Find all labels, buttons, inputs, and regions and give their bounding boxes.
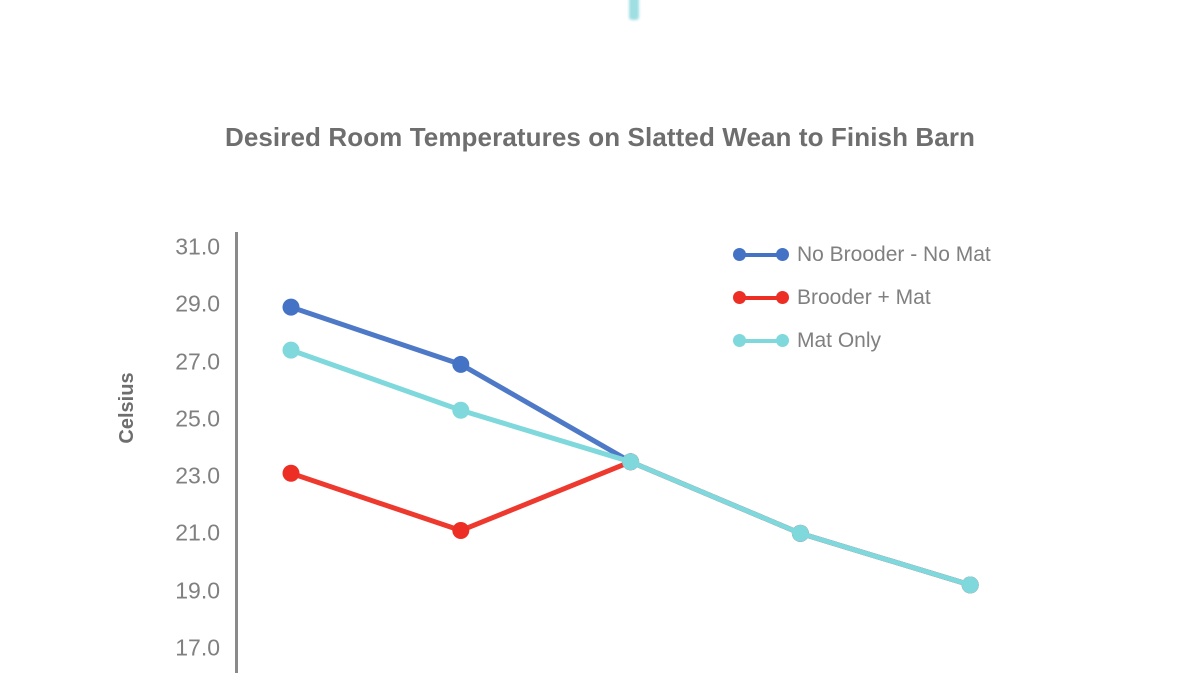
data-point-marker[interactable] (452, 402, 469, 419)
legend-item-label: Mat Only (797, 329, 881, 353)
line-chart: Desired Room Temperatures on Slatted Wea… (0, 0, 1200, 675)
data-point-marker[interactable] (452, 356, 469, 373)
data-point-marker[interactable] (792, 525, 809, 542)
data-point-marker[interactable] (962, 576, 979, 593)
legend-swatch-icon (733, 332, 789, 350)
series-path (291, 462, 970, 585)
legend-item[interactable]: No Brooder - No Mat (733, 233, 1053, 276)
series-line-mat-only (283, 342, 979, 594)
data-point-marker[interactable] (283, 342, 300, 359)
chart-legend: No Brooder - No MatBrooder + MatMat Only (733, 233, 1053, 362)
data-point-marker[interactable] (622, 453, 639, 470)
data-point-marker[interactable] (452, 522, 469, 539)
legend-item-label: No Brooder - No Mat (797, 243, 991, 267)
legend-swatch-icon (733, 246, 789, 264)
legend-swatch-icon (733, 289, 789, 307)
series-line-brooder-mat (283, 453, 979, 593)
legend-item-label: Brooder + Mat (797, 286, 931, 310)
legend-item[interactable]: Mat Only (733, 319, 1053, 362)
data-point-marker[interactable] (283, 465, 300, 482)
legend-item[interactable]: Brooder + Mat (733, 276, 1053, 319)
data-point-marker[interactable] (283, 299, 300, 316)
